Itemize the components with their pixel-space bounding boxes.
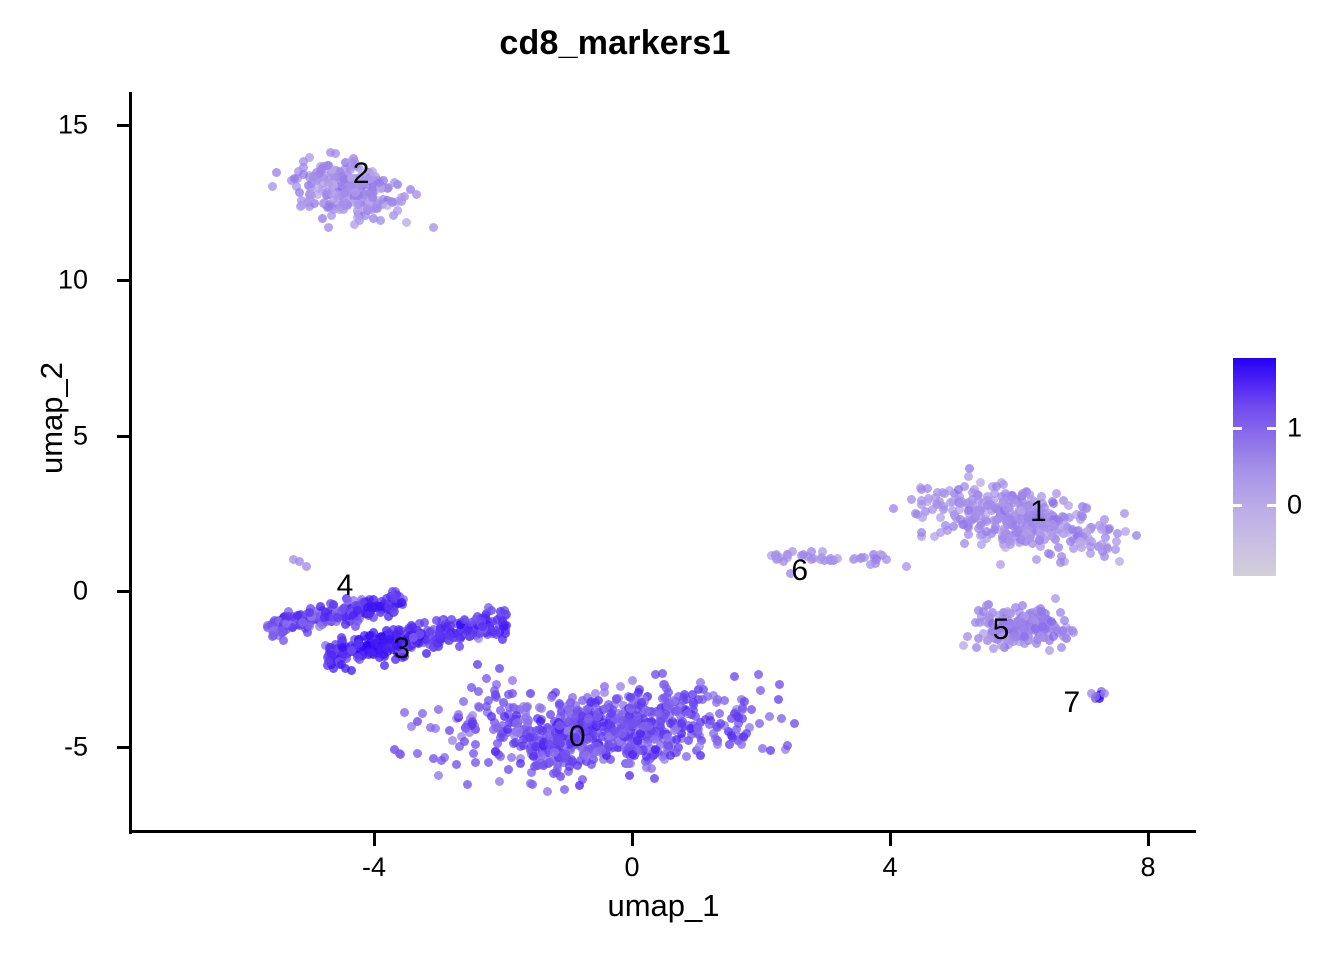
scatter-point [460,737,469,746]
scatter-point [290,174,299,183]
scatter-point [418,709,427,718]
scatter-point [618,729,627,738]
scatter-point [340,201,349,210]
scatter-point [545,758,554,767]
scatter-point [272,168,281,177]
scatter-point [959,520,968,529]
scatter-point [659,680,668,689]
scatter-point [507,753,516,762]
scatter-point [1057,552,1066,561]
x-axis-label: umap_1 [131,888,1196,924]
scatter-point [519,702,528,711]
y-tick-mark [117,435,130,438]
scatter-point [656,722,665,731]
scatter-point [642,752,651,761]
scatter-point [628,700,637,709]
scatter-point [555,699,564,708]
scatter-point [1049,632,1058,641]
scatter-point [372,204,381,213]
scatter-point [504,765,513,774]
scatter-point [642,706,651,715]
scatter-point [996,560,1005,569]
scatter-point [663,733,672,742]
scatter-point [727,731,736,740]
scatter-point [484,758,493,767]
scatter-point [413,749,422,758]
scatter-point [1057,643,1066,652]
scatter-point [738,714,747,723]
scatter-point [737,740,746,749]
y-tick-mark [117,746,130,749]
cluster-label-0: 0 [537,720,617,754]
scatter-point [755,719,764,728]
scatter-point [709,691,718,700]
scatter-point [393,206,402,215]
scatter-point [964,498,973,507]
scatter-point [607,709,616,718]
x-tick-label: -4 [314,852,434,883]
scatter-point [600,688,609,697]
scatter-point [289,555,298,564]
scatter-point [512,719,521,728]
scatter-point [651,745,660,754]
scatter-point [727,714,736,723]
scatter-point [353,617,362,626]
scatter-point [445,631,454,640]
y-axis-line [129,92,132,834]
scatter-point [940,489,949,498]
cluster-label-2: 2 [321,157,401,191]
page-title: cd8_markers1 [0,24,1230,63]
scatter-point [693,723,702,732]
scatter-point [295,188,304,197]
scatter-point [331,149,340,158]
scatter-point [941,521,950,530]
scatter-point [571,701,580,710]
scatter-point [324,223,333,232]
scatter-point [956,499,965,508]
scatter-point [1056,608,1065,617]
x-tick-label: 4 [830,852,950,883]
scatter-point [537,704,546,713]
scatter-point [1100,552,1109,561]
scatter-point [384,602,393,611]
colorbar-tick-1-right [1267,427,1276,430]
scatter-point [1025,534,1034,543]
x-tick-mark [631,833,634,846]
cluster-label-7: 7 [1032,686,1112,720]
scatter-point [504,690,513,699]
scatter-point [730,672,739,681]
scatter-point [463,626,472,635]
scatter-point [593,712,602,721]
x-tick-mark [373,833,376,846]
scatter-point [954,485,963,494]
scatter-point [337,660,346,669]
scatter-point [293,611,302,620]
scatter-point [459,697,468,706]
scatter-point [658,694,667,703]
scatter-point [354,200,363,209]
cluster-label-3: 3 [362,632,442,666]
scatter-point [516,759,525,768]
colorbar-gradient [1233,358,1276,576]
scatter-point [387,197,396,206]
scatter-point [1045,646,1054,655]
scatter-point [1101,533,1110,542]
colorbar-tick-1-left [1233,427,1242,430]
colorbar-tick-0-right [1267,504,1276,507]
colorbar-label-0: 0 [1287,490,1302,521]
scatter-point [689,701,698,710]
scatter-point [543,787,552,796]
scatter-point [495,777,504,786]
scatter-point [974,496,983,505]
scatter-point [454,710,463,719]
scatter-point [284,612,293,621]
scatter-point [452,760,461,769]
scatter-point [269,631,278,640]
scatter-point [974,505,983,514]
scatter-point [992,482,1001,491]
scatter-point [902,562,911,571]
colorbar-label-1: 1 [1287,413,1302,444]
y-tick-mark [117,124,130,127]
umap-feature-plot: cd8_markers1 151050-5 -4048 umap_2 umap_… [0,0,1344,960]
scatter-point [463,780,472,789]
scatter-point [445,726,454,735]
scatter-point [568,693,577,702]
scatter-point [324,657,333,666]
x-axis-line [131,830,1196,833]
scatter-point [725,740,734,749]
scatter-point [461,724,470,733]
cluster-label-1: 1 [998,495,1078,529]
scatter-point [1007,534,1016,543]
y-axis-label: umap_2 [34,288,70,548]
scatter-point [1121,527,1130,536]
scatter-point [1051,594,1060,603]
scatter-point [982,527,991,536]
scatter-point [471,758,480,767]
scatter-point [754,670,763,679]
scatter-point [397,598,406,607]
scatter-point [964,530,973,539]
scatter-point [473,660,482,669]
scatter-point [498,635,507,644]
scatter-point [1032,555,1041,564]
scatter-point [552,768,561,777]
scatter-point [484,603,493,612]
y-tick-label: 15 [0,109,88,140]
scatter-point [296,202,305,211]
x-tick-label: 0 [572,852,692,883]
cluster-label-4: 4 [305,569,385,603]
y-tick-label: -5 [0,731,88,762]
cluster-label-5: 5 [961,613,1041,647]
scatter-point [628,750,637,759]
y-tick-label: 0 [0,576,88,607]
colorbar-tick-0-left [1233,504,1242,507]
scatter-point [474,687,483,696]
scatter-point [1120,509,1129,518]
scatter-point [766,746,775,755]
scatter-point [305,622,314,631]
scatter-point [474,702,483,711]
scatter-point [333,613,342,622]
scatter-point [742,729,751,738]
y-tick-mark [117,590,130,593]
scatter-point [546,710,555,719]
scatter-point [1111,545,1120,554]
scatter-point [1045,531,1054,540]
scatter-point [341,620,350,629]
scatter-point [321,608,330,617]
scatter-point [511,738,520,747]
scatter-point [434,771,443,780]
scatter-point [775,680,784,689]
scatter-point [482,674,491,683]
scatter-point [965,464,974,473]
scatter-point [783,741,792,750]
scatter-point [468,717,477,726]
scatter-point [616,682,625,691]
y-tick-mark [117,279,130,282]
x-tick-mark [889,833,892,846]
scatter-point [650,774,659,783]
x-tick-mark [1147,833,1150,846]
scatter-point [747,705,756,714]
cluster-label-6: 6 [760,554,840,588]
scatter-point [790,719,799,728]
scatter-point [696,678,705,687]
scatter-point [946,498,955,507]
scatter-point [279,636,288,645]
scatter-point [1011,603,1020,612]
scatter-point [413,717,422,726]
scatter-point [327,211,336,220]
x-tick-label: 8 [1088,852,1208,883]
scatter-point [705,720,714,729]
scatter-point [426,723,435,732]
scatter-point [918,513,927,522]
scatter-point [338,643,347,652]
scatter-point [1035,535,1044,544]
scatter-point [985,500,994,509]
